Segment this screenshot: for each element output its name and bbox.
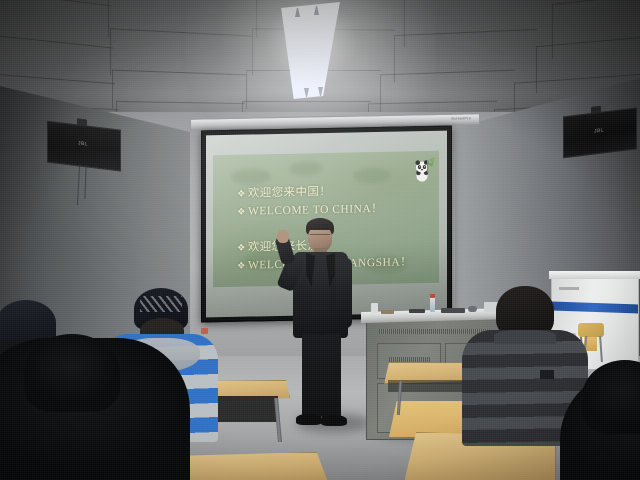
wall-speaker-left: JBL [47,121,119,170]
presenter-leg-left [302,334,322,418]
presenter-shoe-left [296,414,322,425]
presenter-glasses [310,234,330,239]
wall-speaker-right: JBL [563,108,635,157]
speaker-logo-left: JBL [78,141,88,148]
slide-line-2: ❖WELCOME TO CHINA！ [237,200,383,219]
console-keyboard [441,308,465,313]
ceiling-light-fixture [258,0,363,100]
sweater-collar [494,330,556,344]
light-diffuser [258,0,363,100]
speaker-logo-right: JBL [594,128,604,135]
panda-icon [415,156,437,182]
console-bottle-cap [430,294,435,298]
presenter-shoe-right [321,415,347,426]
console-cup [371,303,378,313]
presenter [276,218,368,434]
slide-bullet-3: ❖ [237,243,246,254]
presenter-left-arm [336,258,352,328]
presenter-hand [277,230,289,243]
slide-bullet-1: ❖ [237,189,246,200]
slide-bullet-2: ❖ [237,207,246,218]
slide-text-2: WELCOME TO CHINA！ [248,203,383,218]
classroom-photo: JBL JBL ScreenPro ❖欢迎您来中国！ ❖WELCOME TO C… [0,0,640,480]
console-remote [409,309,425,313]
student-left-front-head [24,334,120,412]
slide-bullet-4: ❖ [237,261,246,272]
slide-line-1: ❖欢迎您来中国！ [237,183,331,201]
beanie-pattern [140,296,182,312]
desk-front-left [186,452,326,480]
cabinet-top [549,271,640,279]
console-papers [381,310,394,314]
housing-brand-label: ScreenPro [451,116,471,120]
presenter-inner-shirt [312,254,329,314]
slide-text-1: 欢迎您来中国！ [248,186,331,200]
console-water-bottle [430,297,435,312]
presenter-leg-right [321,334,341,418]
sweater-logo-patch [540,370,554,379]
